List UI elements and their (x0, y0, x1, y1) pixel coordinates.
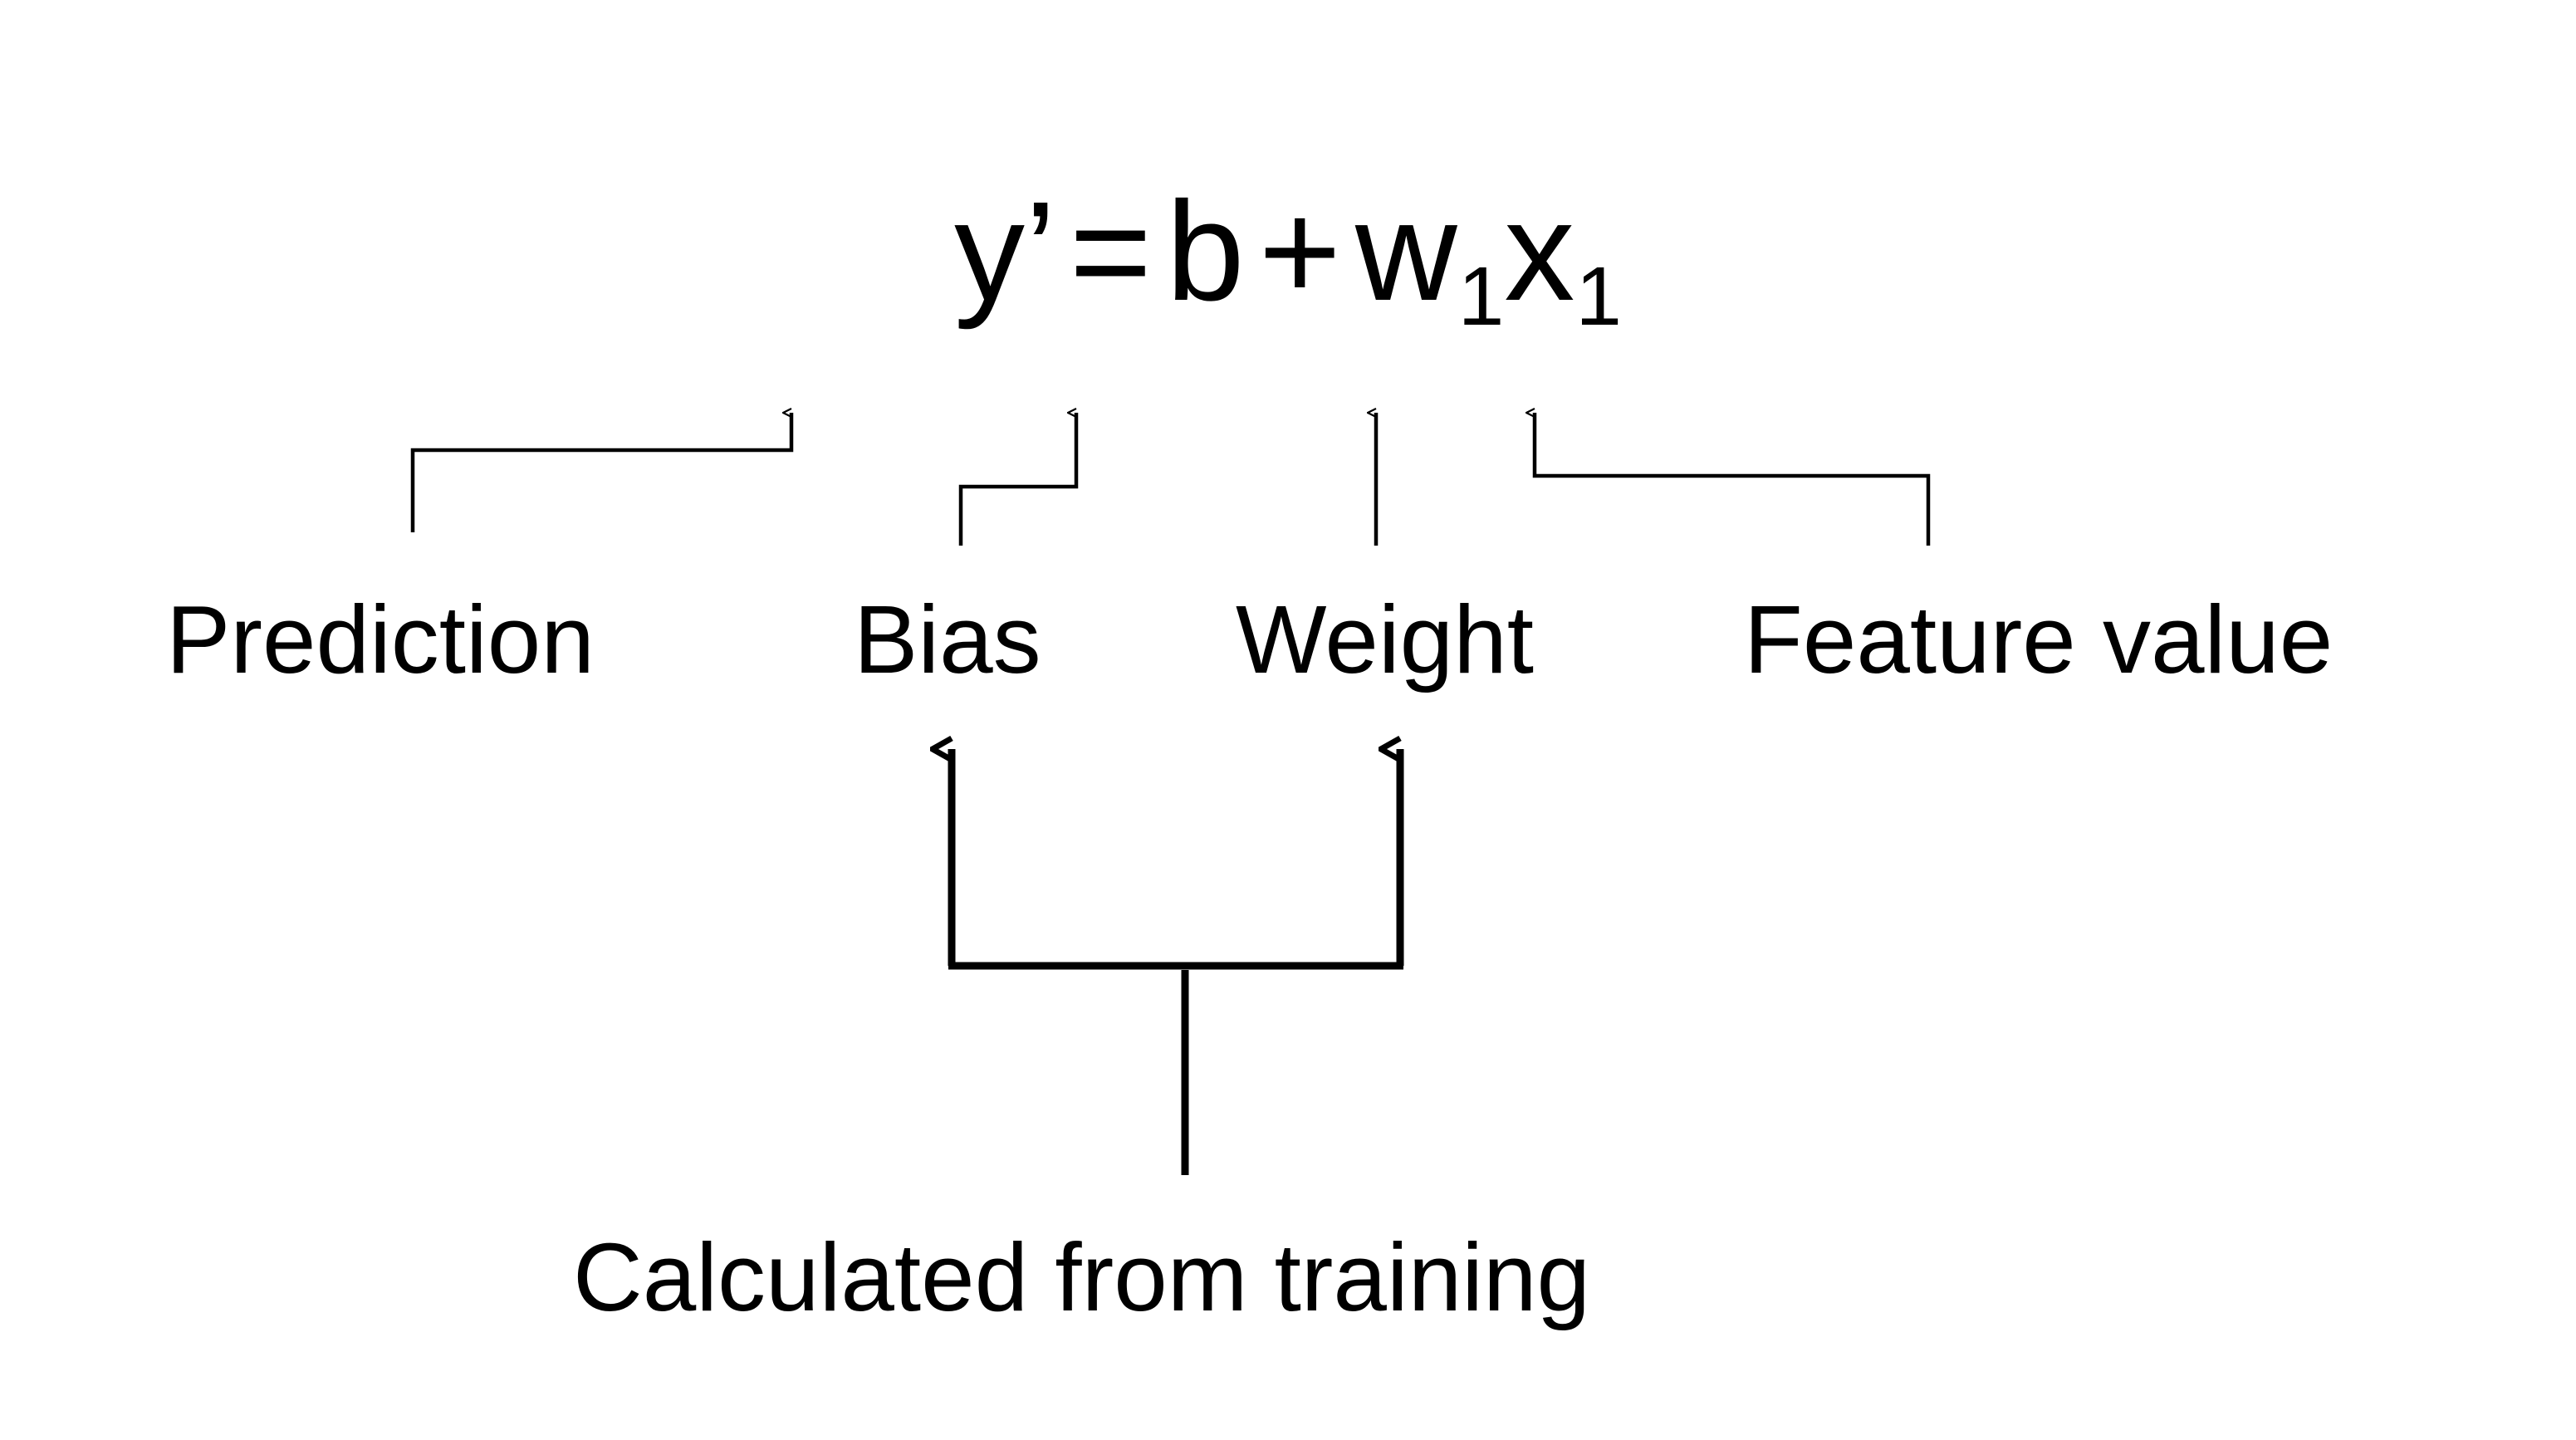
prediction-connector (413, 413, 791, 532)
label-calculated-from-training: Calculated from training (573, 1229, 1590, 1325)
label-prediction: Prediction (166, 591, 595, 688)
label-feature-value: Feature value (1744, 591, 2333, 688)
feature-value-connector (1535, 413, 1928, 546)
bias-connector (961, 413, 1076, 546)
linear-regression-diagram: y’=b+w1x1 Prediction Bias Weight Feature… (0, 0, 2576, 1440)
label-weight: Weight (1236, 591, 1534, 688)
label-bias: Bias (854, 591, 1041, 688)
